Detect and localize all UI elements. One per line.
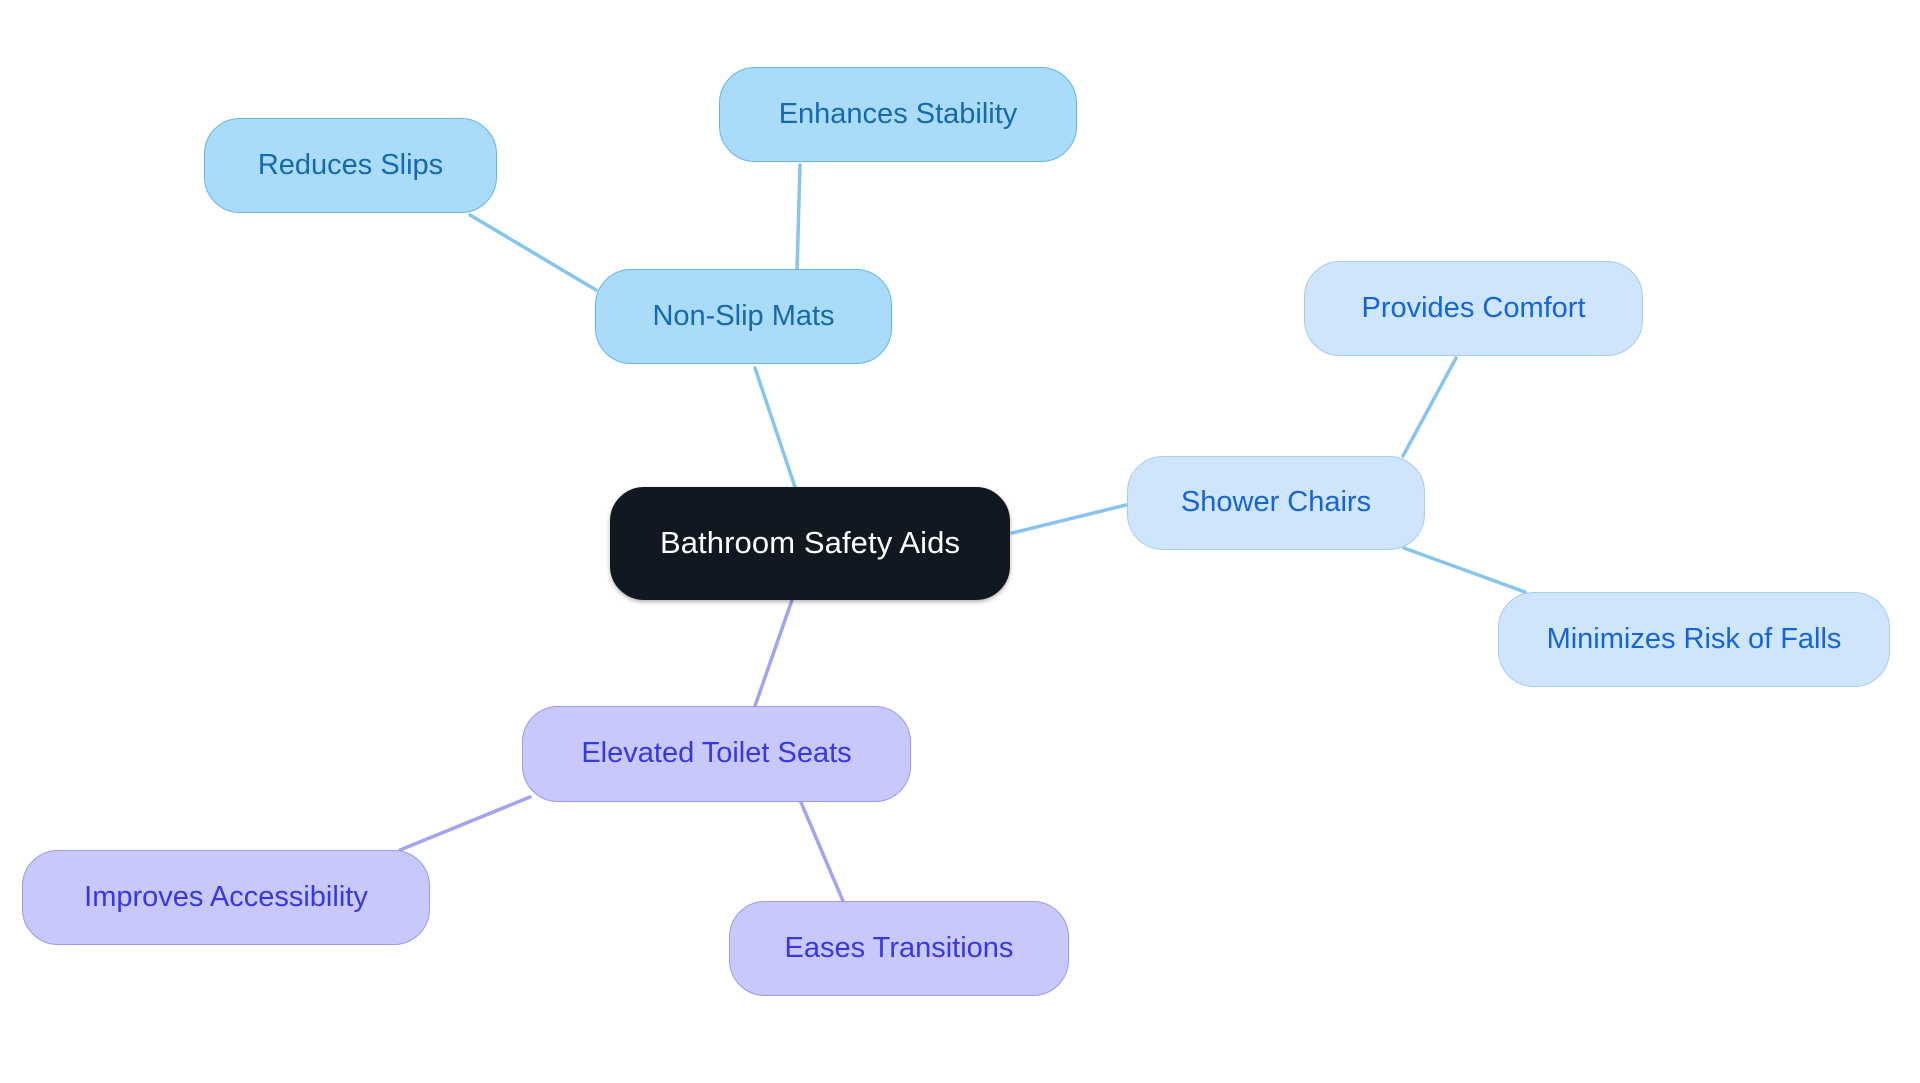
edge-non-slip-to-enhances-stab [797,165,800,272]
node-label-enhances-stability: Enhances Stability [779,99,1018,131]
edge-elevated-to-improves-access [400,797,530,850]
edge-root-to-shower-chairs [1012,505,1126,533]
node-label-provides-comfort: Provides Comfort [1361,293,1585,325]
node-label-minimizes-risk-of-falls: Minimizes Risk of Falls [1547,624,1842,656]
node-shower-chairs[interactable]: Shower Chairs [1127,456,1425,550]
node-minimizes-risk-of-falls[interactable]: Minimizes Risk of Falls [1498,592,1890,687]
node-elevated-toilet-seats[interactable]: Elevated Toilet Seats [522,706,911,802]
node-provides-comfort[interactable]: Provides Comfort [1304,261,1643,356]
node-label-elevated-toilet-seats: Elevated Toilet Seats [581,738,851,770]
edge-shower-to-provides-comfort [1403,358,1456,456]
edge-non-slip-to-reduces-slips [470,215,596,290]
edge-shower-to-minimizes-risk [1404,548,1525,592]
node-eases-transitions[interactable]: Eases Transitions [729,901,1069,996]
edge-root-to-elevated-seats [755,600,792,706]
mindmap-canvas: Bathroom Safety Aids Non-Slip Mats Reduc… [0,0,1920,1083]
node-bathroom-safety-aids[interactable]: Bathroom Safety Aids [610,487,1010,600]
edge-root-to-non-slip-mats [755,368,795,487]
node-label-shower-chairs: Shower Chairs [1181,487,1371,519]
node-enhances-stability[interactable]: Enhances Stability [719,67,1077,162]
node-non-slip-mats[interactable]: Non-Slip Mats [595,269,892,364]
edge-elevated-to-eases-trans [800,800,843,901]
node-label-non-slip-mats: Non-Slip Mats [652,301,834,333]
node-improves-accessibility[interactable]: Improves Accessibility [22,850,430,945]
node-label-bathroom-safety-aids: Bathroom Safety Aids [660,526,960,560]
node-label-reduces-slips: Reduces Slips [258,150,443,182]
node-reduces-slips[interactable]: Reduces Slips [204,118,497,213]
node-label-eases-transitions: Eases Transitions [785,933,1014,965]
node-label-improves-accessibility: Improves Accessibility [84,882,368,914]
